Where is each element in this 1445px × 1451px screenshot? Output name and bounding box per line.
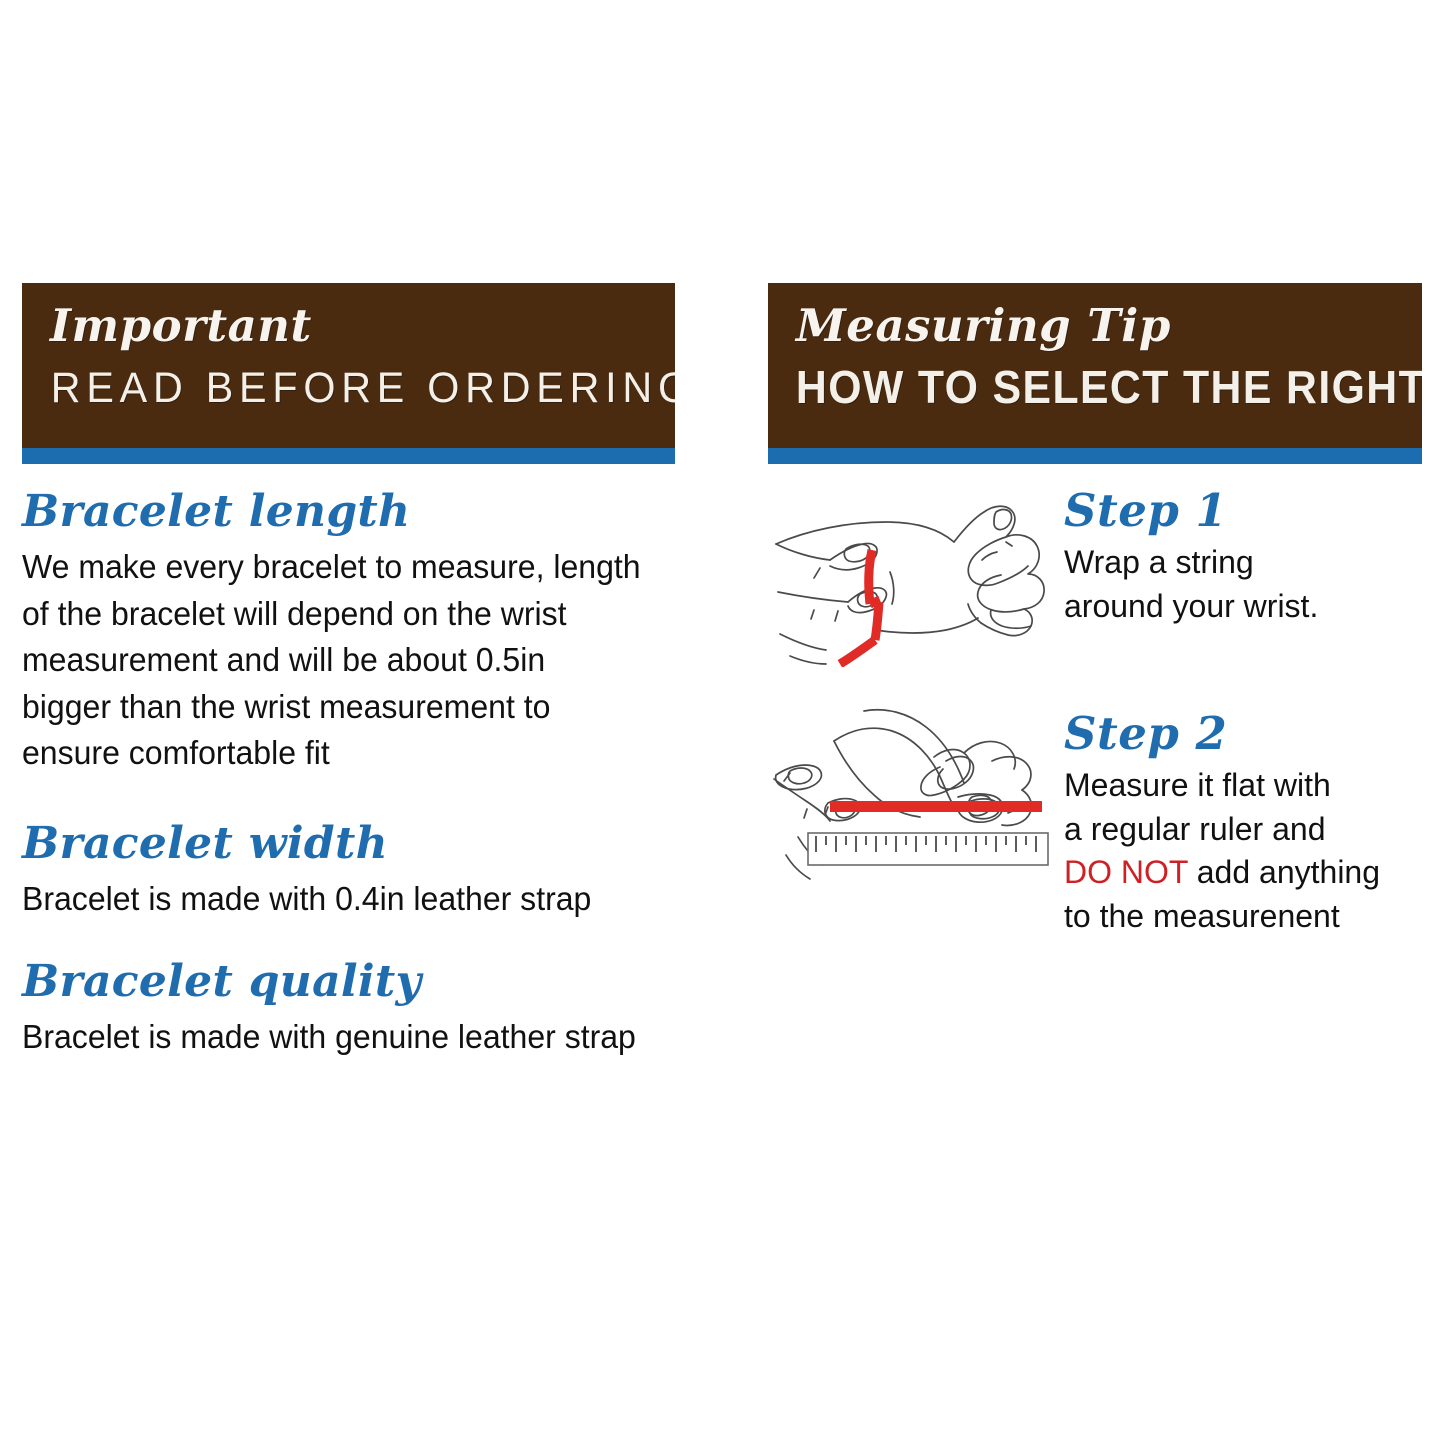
step-2-warning-text: DO NOT (1064, 854, 1188, 890)
spacer (768, 667, 1428, 705)
step-2-text-block: Step 2 Measure it flat witha regular rul… (1058, 705, 1380, 938)
bracelet-width-title: Bracelet width (22, 819, 742, 868)
step-1-label: Step 1 (1064, 488, 1318, 533)
measuring-tip-panel: Measuring Tip HOW TO SELECT THE RIGHT SI… (768, 283, 1422, 464)
measuring-tip-subtitle: HOW TO SELECT THE RIGHT SIZE (768, 360, 1376, 414)
important-header-box: Important READ BEFORE ORDERING (22, 283, 675, 448)
step-2-row: Step 2 Measure it flat witha regular rul… (768, 705, 1428, 938)
bracelet-info-list: Bracelet length We make every bracelet t… (22, 487, 742, 1060)
important-script-title: Important (22, 303, 675, 348)
step-1-copy: Wrap a string around your wrist. (1064, 541, 1318, 628)
step-2-copy-line-2: a regular ruler and (1064, 811, 1325, 847)
important-subtitle: READ BEFORE ORDERING (22, 364, 649, 413)
measuring-tip-header-box: Measuring Tip HOW TO SELECT THE RIGHT SI… (768, 283, 1422, 448)
measuring-tip-script-title: Measuring Tip (768, 303, 1422, 348)
spacer (22, 777, 742, 819)
step-2-copy-line-4: to the measurenent (1064, 898, 1340, 934)
hand-measuring-string-with-ruler-icon (768, 705, 1058, 895)
important-panel: Important READ BEFORE ORDERING (22, 283, 675, 464)
measuring-tip-accent-bar (768, 448, 1422, 464)
step-1-text-block: Step 1 Wrap a string around your wrist. (1058, 482, 1318, 628)
step-1-row: Step 1 Wrap a string around your wrist. (768, 482, 1428, 667)
step-2-copy-line-1: Measure it flat with (1064, 767, 1331, 803)
step-2-copy-line-3-rest: add anything (1188, 854, 1380, 890)
measuring-steps-list: Step 1 Wrap a string around your wrist. (768, 482, 1428, 938)
step-2-label: Step 2 (1064, 711, 1380, 756)
spacer (22, 923, 742, 957)
bracelet-length-title: Bracelet length (22, 487, 742, 536)
important-accent-bar (22, 448, 675, 464)
bracelet-quality-body: Bracelet is made with genuine leather st… (22, 1014, 720, 1061)
hand-with-string-around-wrist-icon (768, 482, 1058, 667)
bracelet-quality-title: Bracelet quality (22, 957, 742, 1006)
bracelet-width-body: Bracelet is made with 0.4in leather stra… (22, 876, 720, 923)
bracelet-length-body: We make every bracelet to measure, lengt… (22, 544, 643, 777)
step-2-copy: Measure it flat witha regular ruler andD… (1064, 764, 1380, 938)
